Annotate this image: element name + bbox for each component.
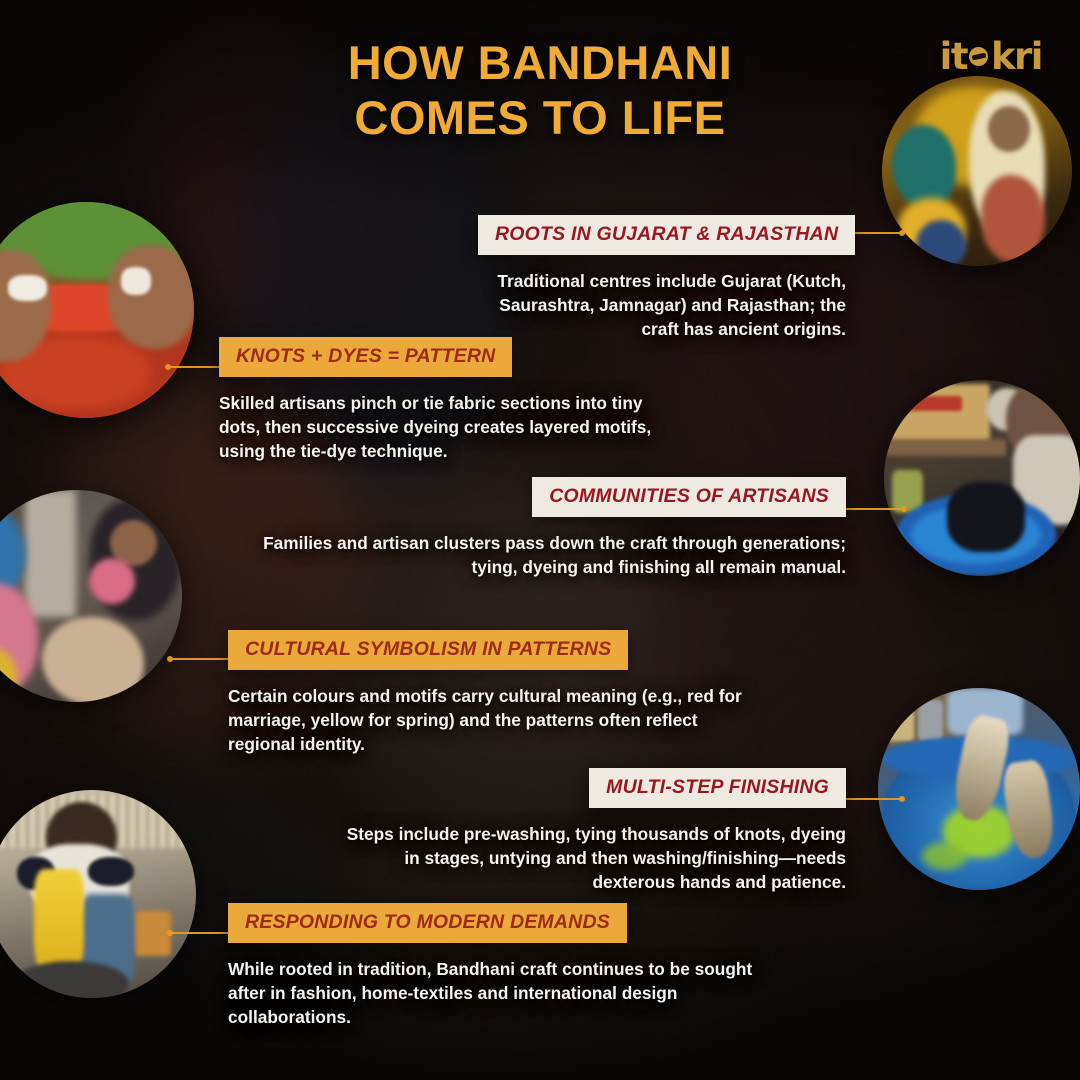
section-body: Certain colours and motifs carry cultura… xyxy=(228,685,768,757)
connector-line-section-3 xyxy=(846,508,904,510)
photo-fabric-bundles-dipped-in-indigo-vat xyxy=(878,688,1080,890)
section-label-wrap: MULTI-STEP FINISHING xyxy=(330,768,846,808)
section-body: Steps include pre-washing, tying thousan… xyxy=(330,823,846,895)
photo-dyer-lifting-yellow-dyed-fabric-from-vat xyxy=(0,790,196,998)
logo-text-after: kri xyxy=(991,35,1042,78)
section-label[interactable]: RESPONDING TO MODERN DEMANDS xyxy=(228,903,627,943)
section-communities-of-artisans: COMMUNITIES OF ARTISANS Families and art… xyxy=(238,477,846,580)
section-responding-to-modern-demands: RESPONDING TO MODERN DEMANDS While roote… xyxy=(228,903,784,1030)
page-title-line-1: HOW BANDHANI xyxy=(0,36,1080,91)
section-label[interactable]: CULTURAL SYMBOLISM IN PATTERNS xyxy=(228,630,628,670)
connector-line-section-5 xyxy=(846,798,902,800)
photo-gold-arc-frame xyxy=(873,369,1080,587)
section-roots-in-gujarat-rajasthan: ROOTS IN GUJARAT & RAJASTHAN Traditional… xyxy=(478,215,846,342)
page-title-line-2: COMES TO LIFE xyxy=(0,91,1080,146)
photo-hands-tying-red-fabric-with-thimbles xyxy=(0,202,194,418)
section-body: Families and artisan clusters pass down … xyxy=(238,532,846,580)
connector-line-section-6 xyxy=(170,932,228,934)
logo-o-mark: o xyxy=(967,38,991,75)
section-body: Skilled artisans pinch or tie fabric sec… xyxy=(219,392,669,464)
connector-line-section-2 xyxy=(168,366,220,368)
section-label[interactable]: MULTI-STEP FINISHING xyxy=(589,768,846,808)
section-body: While rooted in tradition, Bandhani craf… xyxy=(228,958,784,1030)
section-label[interactable]: ROOTS IN GUJARAT & RAJASTHAN xyxy=(478,215,855,255)
section-label-wrap: COMMUNITIES OF ARTISANS xyxy=(238,477,846,517)
section-label[interactable]: KNOTS + DYES = PATTERN xyxy=(219,337,512,377)
section-multi-step-finishing: MULTI-STEP FINISHING Steps include pre-w… xyxy=(330,768,846,895)
page-title: HOW BANDHANI COMES TO LIFE xyxy=(0,36,1080,145)
section-knots-dyes-pattern: KNOTS + DYES = PATTERN Skilled artisans … xyxy=(219,337,669,464)
photo-women-artisans-tying-cream-fabric xyxy=(0,490,182,702)
connector-line-section-4 xyxy=(170,658,228,660)
photo-dyer-with-gloves-in-blue-dye-tub xyxy=(884,380,1080,576)
section-label[interactable]: COMMUNITIES OF ARTISANS xyxy=(532,477,846,517)
itokri-logo[interactable]: itokri xyxy=(940,38,1042,75)
photo-gold-arc-frame xyxy=(867,677,1080,901)
logo-text-before: it xyxy=(940,35,967,78)
logo-basket-icon xyxy=(969,47,988,66)
section-body: Traditional centres include Gujarat (Kut… xyxy=(478,270,846,342)
section-cultural-symbolism-in-patterns: CULTURAL SYMBOLISM IN PATTERNS Certain c… xyxy=(228,630,768,757)
